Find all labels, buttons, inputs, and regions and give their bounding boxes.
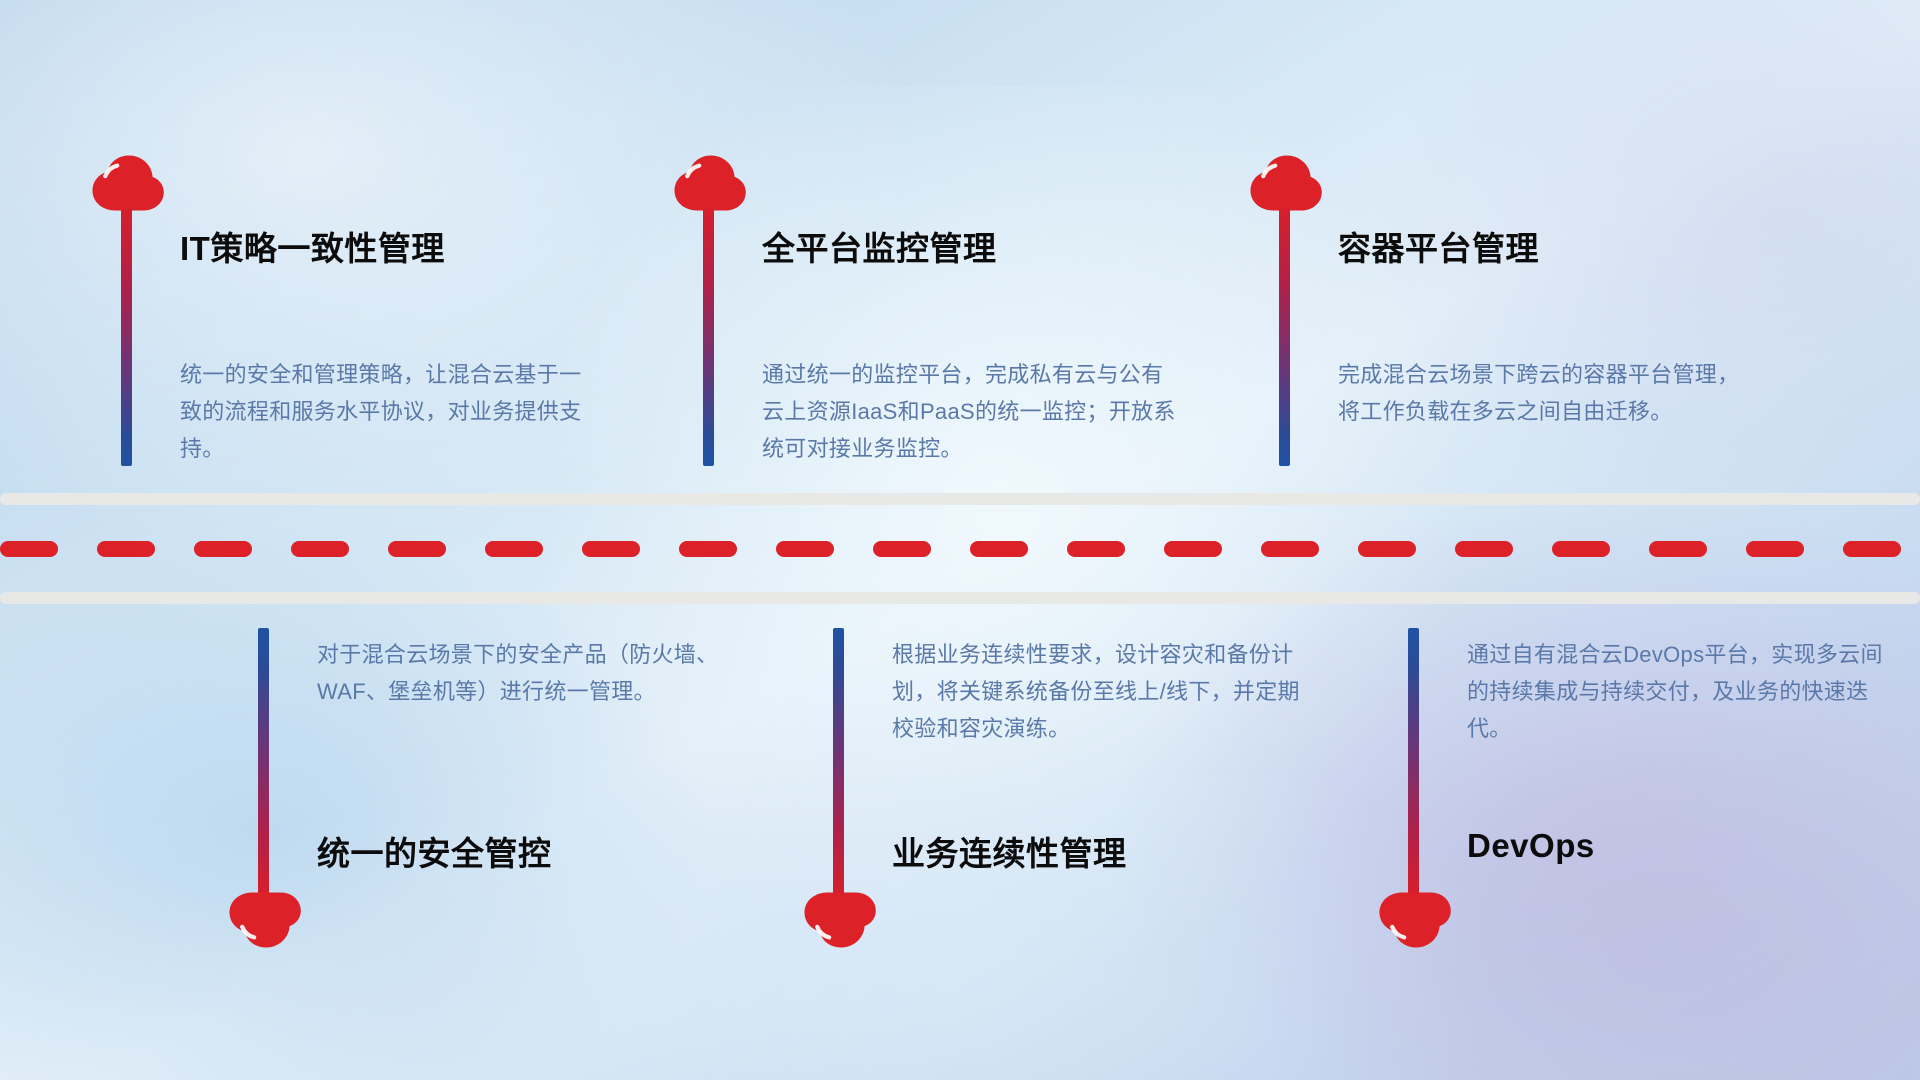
road-dash-segment <box>1455 541 1513 557</box>
cloud-icon <box>1378 892 1452 948</box>
infographic-canvas: IT策略一致性管理 统一的安全和管理策略，让混合云基于一致的流程和服务水平协议，… <box>0 0 1920 1080</box>
column-heading: 业务连续性管理 <box>892 827 1127 875</box>
cloud-icon <box>803 892 877 948</box>
column-body: 通过自有混合云DevOps平台，实现多云间的持续集成与持续交付，及业务的快速迭代… <box>1467 636 1887 747</box>
column-heading: 容器平台管理 <box>1338 222 1539 270</box>
road-dash-segment <box>388 541 446 557</box>
road-dash-segment <box>291 541 349 557</box>
road-center-dashes <box>0 541 1920 557</box>
cloud-icon <box>673 155 747 211</box>
background-glow-bottom-right <box>1229 691 1920 1080</box>
road-dash-segment <box>485 541 543 557</box>
column-heading: 全平台监控管理 <box>762 222 997 270</box>
road-edge-line-bottom <box>0 592 1920 604</box>
column-pole <box>1408 628 1419 898</box>
cloud-icon <box>91 155 165 211</box>
road-dash-segment <box>679 541 737 557</box>
cloud-icon <box>228 892 302 948</box>
road-dash-segment <box>97 541 155 557</box>
road-dash-segment <box>1067 541 1125 557</box>
road-dash-segment <box>1552 541 1610 557</box>
road-edge-line-top <box>0 493 1920 505</box>
column-body: 对于混合云场景下的安全产品（防火墙、WAF、堡垒机等）进行统一管理。 <box>317 636 737 710</box>
road-dash-segment <box>1261 541 1319 557</box>
column-heading: DevOps <box>1467 827 1595 865</box>
column-heading: IT策略一致性管理 <box>180 222 445 270</box>
road-dash-segment <box>1746 541 1804 557</box>
column-heading: 统一的安全管控 <box>317 827 552 875</box>
column-pole <box>121 208 132 466</box>
column-pole <box>258 628 269 898</box>
road-dash-segment <box>970 541 1028 557</box>
column-body: 统一的安全和管理策略，让混合云基于一致的流程和服务水平协议，对业务提供支持。 <box>180 356 600 467</box>
column-body: 根据业务连续性要求，设计容灾和备份计划，将关键系统备份至线上/线下，并定期校验和… <box>892 636 1312 747</box>
road-dash-segment <box>194 541 252 557</box>
road-dash-segment <box>582 541 640 557</box>
column-body: 通过统一的监控平台，完成私有云与公有云上资源IaaS和PaaS的统一监控；开放系… <box>762 356 1182 467</box>
road-dash-segment <box>1164 541 1222 557</box>
road-dash-segment <box>776 541 834 557</box>
column-pole <box>833 628 844 898</box>
column-pole <box>703 208 714 466</box>
road-dash-segment <box>0 541 58 557</box>
road-dash-segment <box>1358 541 1416 557</box>
cloud-icon <box>1249 155 1323 211</box>
road-dash-segment <box>1843 541 1901 557</box>
column-pole <box>1279 208 1290 466</box>
column-body: 完成混合云场景下跨云的容器平台管理，将工作负载在多云之间自由迁移。 <box>1338 356 1758 430</box>
road-dash-segment <box>1649 541 1707 557</box>
road-dash-segment <box>873 541 931 557</box>
